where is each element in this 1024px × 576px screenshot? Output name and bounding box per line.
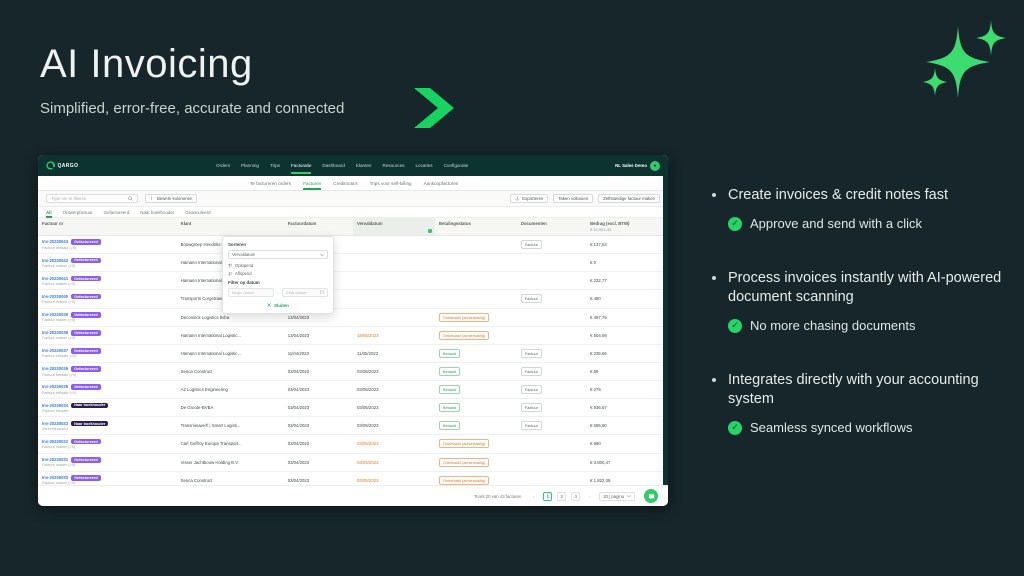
filter-ontwerpfactuur[interactable]: Ontwerpfactuur	[63, 210, 93, 215]
cell-bedrag: € 695,80	[586, 417, 668, 435]
status-badge: Gefactureerd	[71, 312, 101, 318]
payment-status-chip: Betaald	[439, 403, 460, 412]
cell-betalingsstatus	[435, 254, 517, 272]
date-filter-title: Filter op datum	[228, 280, 328, 285]
chevron-right-icon	[408, 82, 460, 134]
cell-vervaldatum: 03/05/2023	[353, 381, 435, 399]
close-panel-label: Sluiten	[274, 303, 289, 308]
invoice-substatus: Factuur maken (>0)	[42, 445, 173, 449]
cell-factuurdatum: 03/04/2023	[284, 399, 353, 417]
cell-vervaldatum	[353, 236, 435, 254]
cell-documenten: Factuur	[517, 362, 586, 380]
cell-factuur-nr[interactable]: Inv-20230035GefactureerdFactuur betaald …	[38, 381, 177, 399]
invoices-table: Factuur nr Klant Factuurdatum Vervaldatu…	[38, 218, 668, 506]
tab-aankoopfacturen[interactable]: Aankoopfacturen	[424, 181, 459, 186]
document-chip[interactable]: Factuur	[521, 294, 542, 303]
cell-bedrag: € 0	[586, 254, 668, 272]
chat-button[interactable]	[644, 489, 658, 503]
invoice-number[interactable]: Inv-20230043	[42, 239, 68, 244]
page-button-3[interactable]: 3	[571, 492, 580, 501]
status-badge: Gefactureerd	[71, 258, 101, 264]
cell-factuur-nr[interactable]: Inv-20230033Naar boekhouderVerzend factu…	[38, 417, 177, 435]
nav-item-orders[interactable]: Orders	[216, 163, 230, 168]
window-edge	[663, 176, 668, 506]
table-header-row: Factuur nr Klant Factuurdatum Vervaldatu…	[38, 218, 668, 236]
nav-item-resources[interactable]: Resources	[383, 163, 405, 168]
sort-ascending-label: Oplopend	[235, 263, 253, 268]
cell-bedrag: € 232,77	[586, 272, 668, 290]
end-date-placeholder: Eind datum	[286, 290, 306, 295]
feature-heading: Create invoices & credit notes fast	[708, 186, 1008, 205]
slide-root: AI Invoicing Simplified, error-free, acc…	[0, 0, 1024, 576]
bullet-dot-icon	[712, 276, 716, 280]
filter-all[interactable]: All	[46, 210, 52, 215]
cell-factuur-nr[interactable]: Inv-20230042GefactureerdFactuur maken (>…	[38, 254, 177, 272]
profile-name: NL Sales Demo	[615, 163, 647, 168]
cell-vervaldatum: 03/05/2023	[353, 399, 435, 417]
table-row[interactable]: Inv-20230040GefactureerdFactuur maken (>…	[38, 290, 668, 308]
cell-factuur-nr[interactable]: Inv-20230036GefactureerdFactuur betaald …	[38, 362, 177, 380]
payment-status-chip: Onbetaald (achterstallig)	[439, 458, 489, 467]
cell-documenten: Factuur	[517, 290, 586, 308]
cell-documenten	[517, 435, 586, 453]
cell-klant: Hamann International Logistic...	[177, 326, 284, 344]
feature-item: Integrates directly with your accounting…	[708, 371, 1008, 435]
cell-factuur-nr[interactable]: Inv-20230034Naar boekhouderFactuur betaa…	[38, 399, 177, 417]
table-row[interactable]: Inv-20230031GefactureerdFactuur maken (>…	[38, 453, 668, 471]
tab-creditnotas[interactable]: Creditnota's	[333, 181, 357, 186]
payment-status-chip: Betaald	[439, 385, 460, 394]
cell-documenten	[517, 254, 586, 272]
bullet-dot-icon	[712, 378, 716, 382]
invoice-substatus: Factuur maken (>0)	[42, 463, 173, 467]
sort-panel-title: Sorteren	[228, 242, 328, 247]
page-title: AI Invoicing	[40, 42, 253, 87]
status-badge: Gefactureerd	[71, 475, 101, 481]
invoice-substatus: Factuur betaald	[42, 409, 173, 413]
cell-bedrag: € 504,69	[586, 326, 668, 344]
create-standalone-invoice-label: Zelfstandige factuur maken	[603, 196, 655, 201]
complete-tasks-label: Taken voltooien	[558, 196, 588, 201]
tab-trips-self-billing[interactable]: Trips voor self-billing	[370, 181, 412, 186]
col-bedrag-label: Bedrag (excl. BTW)	[590, 221, 629, 226]
chevron-down-icon	[627, 494, 631, 498]
cell-klant: Carl Geffroy Europa Transport...	[177, 435, 284, 453]
cell-klant: Transnieuwe® | Smart Logisti...	[177, 417, 284, 435]
cell-bedrag: € 480	[586, 290, 668, 308]
cell-bedrag: € 487,76	[586, 308, 668, 326]
invoice-substatus: Factuur maken (>0)	[42, 318, 173, 322]
profile-menu[interactable]: NL Sales Demo ●	[615, 161, 660, 171]
nav-item-dashboard[interactable]: Dashboard	[322, 163, 344, 168]
cell-vervaldatum: 18/05/2023	[353, 326, 435, 344]
sort-field-select[interactable]: Vervaldatum	[228, 250, 328, 259]
invoice-number[interactable]: Inv-20230036	[42, 366, 68, 371]
cell-factuurdatum: 03/04/2023	[284, 381, 353, 399]
check-circle-icon: ✓	[728, 421, 742, 435]
document-chip[interactable]: Factuur	[521, 240, 542, 249]
cell-documenten	[517, 308, 586, 326]
cell-betalingsstatus	[435, 272, 517, 290]
qargo-mark-icon	[46, 161, 55, 170]
end-date-input[interactable]: Eind datum	[282, 288, 328, 297]
cell-bedrag: € 680	[586, 435, 668, 453]
search-placeholder: Type om te filteren	[51, 196, 86, 201]
cell-vervaldatum	[353, 254, 435, 272]
nav-item-configuratie[interactable]: Configuratie	[444, 163, 469, 168]
status-badge: Naar boekhouder	[71, 421, 108, 427]
status-badge: Gefactureerd	[71, 276, 101, 282]
invoice-number[interactable]: Inv-20230035	[42, 384, 68, 389]
sparkle-decoration	[910, 18, 1010, 108]
cell-vervaldatum: 03/05/2023	[353, 417, 435, 435]
cell-documenten: Factuur	[517, 344, 586, 362]
invoice-number[interactable]: Inv-20230033	[42, 421, 68, 426]
export-button[interactable]: Exporteren	[510, 194, 548, 204]
table-row[interactable]: Inv-20230033Naar boekhouderVerzend factu…	[38, 417, 668, 435]
table-row[interactable]: Inv-20230037GefactureerdFactuur betaald …	[38, 344, 668, 362]
cell-factuur-nr[interactable]: Inv-20230032GefactureerdFactuur maken (>…	[38, 435, 177, 453]
cell-vervaldatum	[353, 272, 435, 290]
cell-factuur-nr[interactable]: Inv-20230041GefactureerdFactuur maken (>…	[38, 272, 177, 290]
cell-factuur-nr[interactable]: Inv-20230043GefactureerdFactuur betaald …	[38, 236, 177, 254]
col-bedrag[interactable]: Bedrag (excl. BTW) € 10.001,42	[586, 218, 668, 236]
cell-vervaldatum: 03/05/2023	[353, 362, 435, 380]
sort-field-value: Vervaldatum	[232, 252, 255, 257]
cell-factuurdatum: 03/04/2023	[284, 417, 353, 435]
status-badge: Gefactureerd	[71, 384, 101, 390]
page-button-1[interactable]: 1	[543, 492, 552, 501]
complete-tasks-button[interactable]: Taken voltooien	[553, 194, 593, 204]
calendar-icon	[320, 290, 324, 294]
col-vervaldatum-label: Vervaldatum	[357, 221, 383, 226]
nav-item-planning[interactable]: Planning	[241, 163, 259, 168]
cell-klant: Hamann International Logistic...	[177, 344, 284, 362]
invoice-substatus: Verzend factuur	[42, 427, 173, 431]
status-filter-tabs: All Ontwerpfactuur Gefactureerd Naar boe…	[38, 207, 668, 218]
cell-vervaldatum: 11/05/2023	[353, 344, 435, 362]
sort-ascending-icon	[228, 263, 232, 268]
cell-factuurdatum: 13/04/2023	[284, 326, 353, 344]
filter-naar-boekhouder[interactable]: Naar boekhouder	[140, 210, 174, 215]
cell-betalingsstatus: Betaald	[435, 362, 517, 380]
feature-subitem-text: Seamless synced workflows	[750, 420, 913, 435]
invoice-number[interactable]: Inv-20230040	[42, 294, 68, 299]
nav-item-trips[interactable]: Trips	[270, 163, 280, 168]
export-label: Exporteren	[522, 196, 543, 201]
col-factuurdatum[interactable]: Factuurdatum	[284, 218, 353, 236]
cell-betalingsstatus: Onbetaald (achterstallig)	[435, 326, 517, 344]
invoice-number[interactable]: Inv-20230030	[42, 475, 68, 480]
app-logo[interactable]: QARGO	[46, 161, 78, 170]
table-row[interactable]: Inv-20230034Naar boekhouderFactuur betaa…	[38, 399, 668, 417]
tab-facturen[interactable]: Facturen	[303, 181, 321, 186]
next-page-button[interactable]: ›	[585, 492, 594, 501]
status-badge: Gefactureerd	[71, 294, 101, 300]
status-badge: Gefactureerd	[71, 439, 101, 445]
check-circle-icon: ✓	[728, 319, 742, 333]
status-badge: Gefactureerd	[71, 239, 101, 245]
invoice-number[interactable]: Inv-20230037	[42, 348, 68, 353]
document-chip[interactable]: Factuur	[521, 385, 542, 394]
payment-status-chip: Onbetaald (achterstallig)	[439, 331, 489, 340]
feature-subitem-text: Approve and send with a click	[750, 216, 922, 231]
cell-vervaldatum: 03/05/2023	[353, 453, 435, 471]
status-badge: Gefactureerd	[71, 457, 101, 463]
cell-klant: A2 Logistics Engineering	[177, 381, 284, 399]
bullet-dot-icon	[712, 193, 716, 197]
status-badge: Gefactureerd	[71, 330, 101, 336]
date-range-filter: Begin datum – Eind datum	[228, 288, 328, 297]
feature-subitem: ✓ Seamless synced workflows	[728, 420, 1008, 435]
cell-betalingsstatus: Betaald	[435, 344, 517, 362]
feature-item: Create invoices & credit notes fast ✓ Ap…	[708, 186, 1008, 231]
cell-documenten	[517, 272, 586, 290]
cell-betalingsstatus: Betaald	[435, 399, 517, 417]
sort-caret-icon[interactable]	[428, 229, 432, 233]
table-row[interactable]: Inv-20230038GefactureerdFactuur maken (>…	[38, 326, 668, 344]
cell-documenten	[517, 326, 586, 344]
feature-heading-text: Integrates directly with your accounting…	[728, 372, 979, 407]
feature-heading-text: Create invoices & credit notes fast	[728, 187, 948, 203]
search-input[interactable]: Type om te filteren	[46, 194, 138, 204]
close-icon	[267, 303, 271, 307]
table-footer: Toont 20 van 43 facturen ‹ 1 2 3 › 20 | …	[38, 485, 668, 506]
per-page-value: 20 | pagina	[603, 494, 624, 499]
cell-factuur-nr[interactable]: Inv-20230038GefactureerdFactuur maken (>…	[38, 326, 177, 344]
cell-documenten: Factuur	[517, 399, 586, 417]
table-toolbar: Type om te filteren Bewerk kolommen	[38, 191, 668, 207]
export-icon	[515, 196, 520, 201]
cell-vervaldatum	[353, 290, 435, 308]
invoice-substatus: Factuur maken (>0)	[42, 282, 173, 286]
status-badge: Gefactureerd	[71, 348, 101, 354]
cell-bedrag: € 275	[586, 381, 668, 399]
filter-gefactureerd[interactable]: Gefactureerd	[104, 210, 130, 215]
cell-factuurdatum: 03/04/2023	[284, 362, 353, 380]
amount-subtotal: € 10.001,42	[590, 227, 664, 232]
cell-vervaldatum	[353, 308, 435, 326]
sort-descending-option[interactable]: Aflopend	[228, 271, 328, 276]
app-window: QARGO Orders Planning Trips Facturatie D…	[38, 155, 668, 506]
cell-bedrag: € 235,66	[586, 344, 668, 362]
payment-status-chip: Betaald	[439, 421, 460, 430]
invoice-substatus: Factuur betaald (>0)	[42, 246, 173, 250]
chat-icon	[648, 493, 655, 500]
table-row[interactable]: Inv-20230035GefactureerdFactuur betaald …	[38, 381, 668, 399]
cell-betalingsstatus: Betaald	[435, 417, 517, 435]
invoice-number[interactable]: Inv-20230042	[42, 258, 68, 263]
tab-te-factureren-orders[interactable]: Te factureren orders	[250, 181, 291, 186]
start-date-placeholder: Begin datum	[232, 290, 254, 295]
date-range-separator: –	[277, 290, 279, 295]
invoice-substatus: Factuur maken (>0)	[42, 336, 173, 340]
cell-bedrag: € 936,67	[586, 399, 668, 417]
cell-documenten: Factuur	[517, 381, 586, 399]
invoice-substatus: Factuur maken (>0)	[42, 300, 173, 304]
table-body: Inv-20230043GefactureerdFactuur betaald …	[38, 236, 668, 507]
payment-status-chip: Betaald	[439, 349, 460, 358]
sort-ascending-option[interactable]: Oplopend	[228, 263, 328, 268]
table-row[interactable]: Inv-20230036GefactureerdFactuur betaald …	[38, 362, 668, 380]
col-factuur-nr[interactable]: Factuur nr	[38, 218, 177, 236]
create-standalone-invoice-button[interactable]: Zelfstandige factuur maken	[598, 194, 660, 204]
table-row[interactable]: Inv-20230032GefactureerdFactuur maken (>…	[38, 435, 668, 453]
per-page-select[interactable]: 20 | pagina	[599, 492, 635, 501]
invoice-number[interactable]: Inv-20230038	[42, 330, 68, 335]
col-betalingsstatus[interactable]: Betalingsstatus	[435, 218, 517, 236]
cell-betalingsstatus	[435, 236, 517, 254]
cell-vervaldatum: 03/05/2023	[353, 435, 435, 453]
sort-descending-label: Aflopend	[235, 271, 252, 276]
toolbar-actions: Exporteren Taken voltooien Zelfstandige …	[510, 194, 660, 204]
col-vervaldatum[interactable]: Vervaldatum	[353, 218, 435, 236]
sort-filter-panel: Sorteren Vervaldatum Oplopend Aflopend F…	[222, 236, 334, 314]
invoice-number[interactable]: Inv-20230032	[42, 439, 68, 444]
feature-subitem-text: No more chasing documents	[750, 318, 915, 333]
edit-columns-button[interactable]: Bewerk kolommen	[145, 194, 197, 204]
cell-betalingsstatus: Onbetaald (achterstallig)	[435, 308, 517, 326]
feature-subitem: ✓ Approve and send with a click	[728, 216, 1008, 231]
cell-documenten	[517, 453, 586, 471]
nav-item-locaties[interactable]: Locaties	[415, 163, 432, 168]
feature-heading: Integrates directly with your accounting…	[708, 371, 1008, 409]
payment-status-chip: Betaald	[439, 367, 460, 376]
invoice-substatus: Factuur betaald (>0)	[42, 373, 173, 377]
result-count: Toont 20 van 43 facturen	[474, 494, 521, 499]
invoice-number[interactable]: Inv-20230039	[42, 312, 68, 317]
main-navigation: Orders Planning Trips Facturatie Dashboa…	[216, 163, 468, 168]
filter-geannuleerd[interactable]: Geannuleerd	[185, 210, 210, 215]
col-documenten[interactable]: Documenten	[517, 218, 586, 236]
app-logo-text: QARGO	[58, 163, 79, 169]
prev-page-button[interactable]: ‹	[529, 492, 538, 501]
edit-columns-label: Bewerk kolommen	[157, 196, 192, 201]
feature-item: Process invoices instantly with AI-power…	[708, 269, 1008, 333]
app-topbar: QARGO Orders Planning Trips Facturatie D…	[38, 155, 668, 176]
cell-factuur-nr[interactable]: Inv-20230031GefactureerdFactuur maken (>…	[38, 453, 177, 471]
cell-betalingsstatus: Onbetaald (achterstallig)	[435, 435, 517, 453]
table-row[interactable]: Inv-20230042GefactureerdFactuur maken (>…	[38, 254, 668, 272]
feature-heading: Process invoices instantly with AI-power…	[708, 269, 1008, 307]
close-panel-button[interactable]: Sluiten	[228, 302, 328, 308]
invoice-substatus: Factuur maken (>0)	[42, 264, 173, 268]
invoice-substatus: Factuur betaald (>0)	[42, 391, 173, 395]
cell-factuur-nr[interactable]: Inv-20230040GefactureerdFactuur maken (>…	[38, 290, 177, 308]
sort-descending-icon	[228, 271, 232, 276]
sub-tabs: Te factureren orders Facturen Creditnota…	[38, 176, 668, 191]
chevron-down-icon	[320, 253, 324, 257]
cell-factuurdatum: 03/04/2023	[284, 453, 353, 471]
table-row[interactable]: Inv-20230039GefactureerdFactuur maken (>…	[38, 308, 668, 326]
page-subtitle: Simplified, error-free, accurate and con…	[40, 100, 344, 117]
nav-item-klanten[interactable]: Klanten	[356, 163, 372, 168]
cell-klant: De Groote-BVBA	[177, 399, 284, 417]
cell-bedrag: € 3.800,47	[586, 453, 668, 471]
cell-betalingsstatus: Onbetaald (achterstallig)	[435, 453, 517, 471]
nav-item-facturatie[interactable]: Facturatie	[291, 163, 311, 168]
cell-bedrag: € 59	[586, 362, 668, 380]
cell-bedrag: € 137,53	[586, 236, 668, 254]
cell-betalingsstatus: Betaald	[435, 381, 517, 399]
payment-status-chip: Onbetaald (achterstallig)	[439, 476, 489, 485]
cell-factuur-nr[interactable]: Inv-20230039GefactureerdFactuur maken (>…	[38, 308, 177, 326]
cell-factuurdatum: 03/04/2023	[284, 435, 353, 453]
feature-heading-text: Process invoices instantly with AI-power…	[728, 270, 1001, 305]
cell-klant: Visser Jachtbouw Holding B.V.	[177, 453, 284, 471]
table-row[interactable]: Inv-20230041GefactureerdFactuur maken (>…	[38, 272, 668, 290]
cell-documenten: Factuur	[517, 417, 586, 435]
start-date-input[interactable]: Begin datum	[228, 288, 274, 297]
cell-factuur-nr[interactable]: Inv-20230037GefactureerdFactuur betaald …	[38, 344, 177, 362]
search-icon	[128, 196, 133, 201]
invoice-number[interactable]: Inv-20230031	[42, 457, 68, 462]
invoice-substatus: Factuur betaald (>0)	[42, 354, 173, 358]
document-chip[interactable]: Factuur	[521, 367, 542, 376]
table-row[interactable]: Inv-20230043GefactureerdFactuur betaald …	[38, 236, 668, 254]
invoice-number[interactable]: Inv-20230034	[42, 403, 68, 408]
cell-documenten: Factuur	[517, 236, 586, 254]
feature-list: Create invoices & credit notes fast ✓ Ap…	[708, 186, 1008, 457]
page-button-2[interactable]: 2	[557, 492, 566, 501]
status-badge: Naar boekhouder	[71, 403, 108, 409]
columns-icon	[150, 196, 155, 201]
payment-status-chip: Onbetaald (achterstallig)	[439, 439, 489, 448]
document-chip[interactable]: Factuur	[521, 421, 542, 430]
invoice-number[interactable]: Inv-20230041	[42, 276, 68, 281]
col-klant[interactable]: Klant	[177, 218, 284, 236]
feature-subitem: ✓ No more chasing documents	[728, 318, 1008, 333]
cell-betalingsstatus	[435, 290, 517, 308]
payment-status-chip: Onbetaald (achterstallig)	[439, 313, 489, 322]
cell-klant: Senca Construct	[177, 362, 284, 380]
user-icon[interactable]: ●	[650, 161, 660, 171]
document-chip[interactable]: Factuur	[521, 349, 542, 358]
check-circle-icon: ✓	[728, 217, 742, 231]
status-badge: Gefactureerd	[71, 366, 101, 372]
cell-factuurdatum: 11/04/2023	[284, 344, 353, 362]
document-chip[interactable]: Factuur	[521, 403, 542, 412]
